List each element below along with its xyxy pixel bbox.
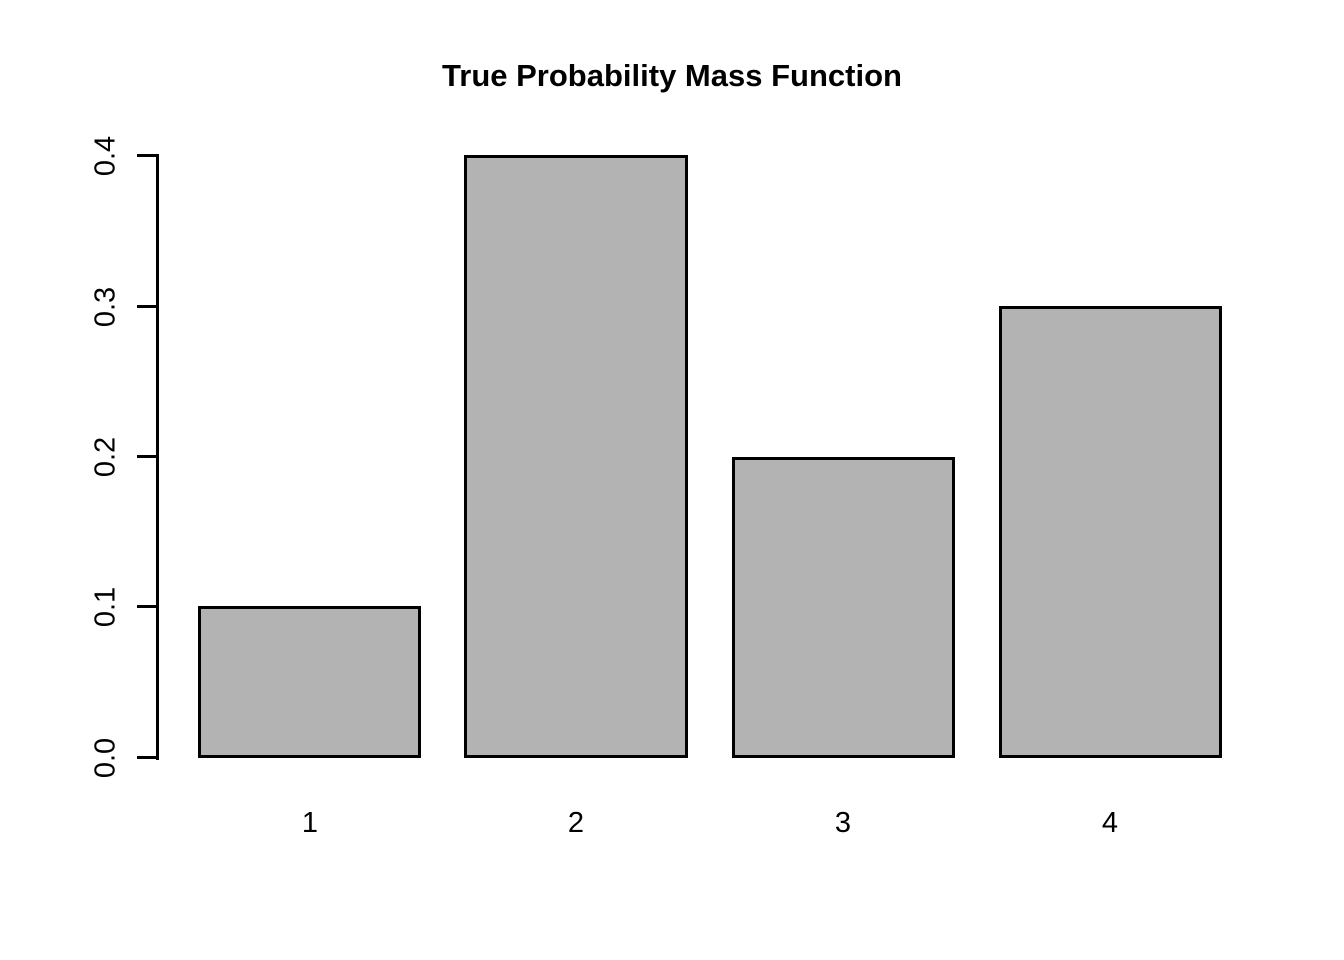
plot-panel: 0.0 0.1 0.2 0.3 0.4 1 2 3 4 [0,0,1344,960]
chart-canvas: True Probability Mass Function 0.0 0.1 0… [0,0,1344,960]
bar-category-3[interactable] [732,457,955,758]
y-axis-label-1: 0.1 [92,547,121,667]
y-axis-label-4: 0.4 [92,96,121,216]
x-axis-label-4: 4 [1040,809,1180,838]
y-axis-tick-0 [137,756,159,759]
y-axis-label-0: 0.0 [92,698,121,818]
x-axis-label-1: 1 [240,809,380,838]
y-axis-tick-2 [137,455,159,458]
bar-category-4[interactable] [999,306,1222,758]
bar-category-1[interactable] [198,606,421,758]
y-axis-tick-4 [137,154,159,157]
y-axis-label-2: 0.2 [92,397,121,517]
bar-category-2[interactable] [464,155,688,758]
x-axis-label-2: 2 [506,809,646,838]
x-axis-label-3: 3 [773,809,913,838]
y-axis-label-3: 0.3 [92,247,121,367]
y-axis-tick-3 [137,305,159,308]
y-axis-tick-1 [137,605,159,608]
